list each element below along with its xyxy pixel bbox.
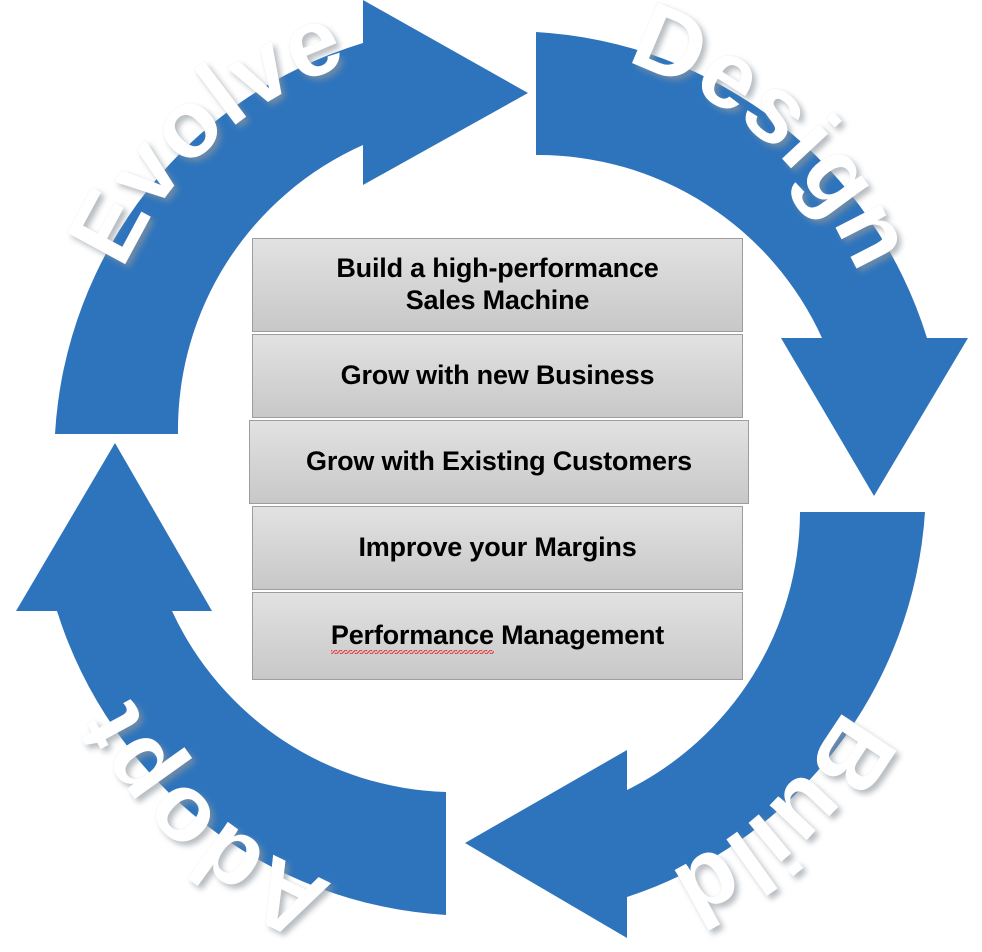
step-box-text: Improve your Margins <box>352 532 642 564</box>
list-item[interactable]: Improve your Margins <box>252 506 743 590</box>
step-box-text: Grow with new Business <box>335 360 661 392</box>
list-item[interactable]: Build a high-performanceSales Machine <box>252 238 743 332</box>
step-box-line2: Management <box>494 620 664 650</box>
list-item[interactable]: Performance Management <box>252 592 743 680</box>
step-box-line1: Build a high-performance <box>336 253 658 283</box>
step-box-text: Build a high-performanceSales Machine <box>330 253 664 317</box>
list-item[interactable]: Grow with new Business <box>252 334 743 418</box>
diagram-canvas: Evolve Evolve Design Design Build Build <box>0 0 982 952</box>
step-box-text: Performance Management <box>325 620 670 652</box>
misspelled-word: Performance <box>331 620 494 652</box>
list-item[interactable]: Grow with Existing Customers <box>249 420 749 504</box>
center-step-list: Build a high-performanceSales Machine Gr… <box>249 238 749 680</box>
step-box-text: Grow with Existing Customers <box>300 446 698 478</box>
step-box-line2: Sales Machine <box>406 285 590 315</box>
